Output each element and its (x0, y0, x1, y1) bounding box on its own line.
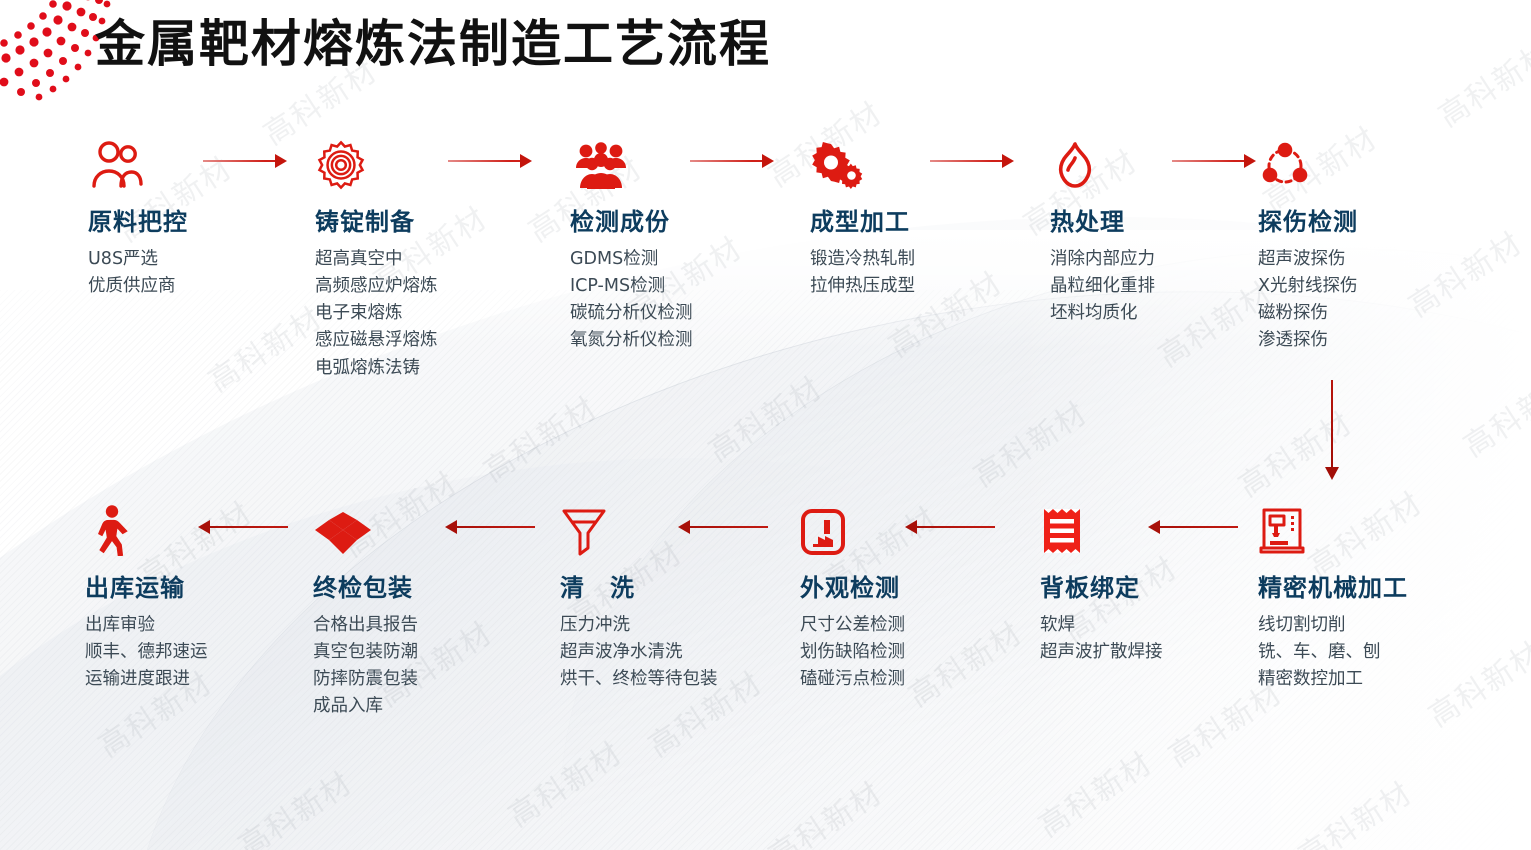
arrow-right-4-icon (930, 154, 1014, 168)
step-item: 消除内部应力 (1050, 246, 1270, 273)
step-item: X光射线探伤 (1258, 273, 1478, 300)
users-icon (88, 140, 144, 190)
step-item: 成品入库 (313, 693, 533, 720)
people-group-icon (570, 142, 632, 190)
step-title: 出库运输 (85, 568, 305, 603)
step-items: 线切割切削 铣、车、磨、刨 精密数控加工 (1258, 612, 1508, 693)
funnel-icon (560, 506, 608, 556)
step-item: 运输进度跟进 (85, 666, 305, 693)
watermark-text: 高科新材 (963, 389, 1094, 496)
step-item: GDMS检测 (570, 246, 790, 273)
step-title: 清 洗 (560, 568, 745, 603)
step-item: 超声波净水清洗 (560, 639, 745, 666)
watermark-text: 高科新材 (498, 729, 629, 836)
step-item: 超声波探伤 (1258, 246, 1478, 273)
step-items: 出库审验 顺丰、德邦速运 运输进度跟进 (85, 612, 305, 693)
arrow-left-1-icon (198, 520, 288, 534)
step-item: 渗透探伤 (1258, 327, 1478, 354)
step-title: 探伤检测 (1258, 202, 1478, 237)
arrow-right-3-icon (690, 154, 774, 168)
watermark-text: 高科新材 (228, 759, 359, 850)
watermark-text: 高科新材 (1228, 399, 1359, 506)
step-item: 出库审验 (85, 612, 305, 639)
watermark-text: 高科新材 (1288, 769, 1419, 850)
step-item: 线切割切削 (1258, 612, 1508, 639)
arrow-left-2-icon (445, 520, 535, 534)
step-item: 真空包装防潮 (313, 639, 533, 666)
step-title: 原料把控 (88, 202, 308, 237)
factory-badge-icon (800, 508, 846, 556)
page-title: 金属靶材熔炼法制造工艺流程 (95, 4, 771, 76)
step-title: 检测成份 (570, 202, 790, 237)
step-items: U8S严选 优质供应商 (88, 246, 308, 300)
step-precision-machining[interactable]: 精密机械加工 线切割切削 铣、车、磨、刨 精密数控加工 (1258, 498, 1508, 693)
step-item: 精密数控加工 (1258, 666, 1508, 693)
cnc-machine-icon (1258, 506, 1306, 556)
step-icon-wrap (1258, 498, 1508, 556)
step-title: 外观检测 (800, 568, 1020, 603)
step-title: 成型加工 (810, 202, 1030, 237)
arrow-left-5-icon (1148, 520, 1238, 534)
step-item: 晶粒细化重排 (1050, 273, 1270, 300)
watermark-text: 高科新材 (1428, 29, 1531, 136)
step-flaw-detection[interactable]: 探伤检测 超声波探伤 X光射线探伤 磁粉探伤 渗透探伤 (1258, 132, 1478, 355)
step-item: 顺丰、德邦速运 (85, 639, 305, 666)
step-item: 氧氮分析仪检测 (570, 327, 790, 354)
step-item: 磕碰污点检测 (800, 666, 1020, 693)
step-item: 超声波扩散焊接 (1040, 639, 1260, 666)
step-items: 压力冲洗 超声波净水清洗 烘干、终检等待包装 (560, 612, 745, 693)
watermark-text: 高科新材 (698, 364, 829, 471)
step-items: GDMS检测 ICP-MS检测 碳硫分析仪检测 氧氮分析仪检测 (570, 246, 790, 355)
three-dots-network-icon (1258, 142, 1312, 190)
step-item: 超高真空中 (315, 246, 535, 273)
receipt-plate-icon (1040, 506, 1084, 556)
watermark-text: 高科新材 (473, 384, 604, 491)
step-items: 锻造冷热轧制 拉伸热压成型 (810, 246, 1030, 300)
walking-person-icon (85, 504, 133, 556)
step-item: 划伤缺陷检测 (800, 639, 1020, 666)
watermark-text: 高科新材 (1028, 739, 1159, 846)
step-items: 软焊 超声波扩散焊接 (1040, 612, 1260, 666)
step-item: 优质供应商 (88, 273, 308, 300)
step-item: 软焊 (1040, 612, 1260, 639)
step-item: U8S严选 (88, 246, 308, 273)
step-item: 坯料均质化 (1050, 300, 1270, 327)
flowchart-page: 高科新材高科新材高科新材高科新材高科新材高科新材高科新材高科新材高科新材高科新材… (0, 0, 1531, 850)
step-title: 热处理 (1050, 202, 1270, 237)
step-item: 压力冲洗 (560, 612, 745, 639)
step-items: 超高真空中 高频感应炉熔炼 电子束熔炼 感应磁悬浮熔炼 电弧熔炼法铸 (315, 246, 535, 382)
step-item: 尺寸公差检测 (800, 612, 1020, 639)
step-title: 精密机械加工 (1258, 568, 1508, 603)
step-item: 铣、车、磨、刨 (1258, 639, 1508, 666)
step-icon-wrap (1258, 132, 1478, 190)
step-item: ICP-MS检测 (570, 273, 790, 300)
step-item: 感应磁悬浮熔炼 (315, 327, 535, 354)
step-item: 电弧熔炼法铸 (315, 355, 535, 382)
two-gears-icon (810, 142, 864, 190)
step-title: 背板绑定 (1040, 568, 1260, 603)
arrow-right-2-icon (448, 154, 532, 168)
gear-icon (315, 140, 367, 190)
step-item: 锻造冷热轧制 (810, 246, 1030, 273)
arrow-left-4-icon (905, 520, 995, 534)
arrow-left-3-icon (678, 520, 768, 534)
step-items: 尺寸公差检测 划伤缺陷检测 磕碰污点检测 (800, 612, 1020, 693)
step-item: 防摔防震包装 (313, 666, 533, 693)
watermark-text: 高科新材 (1453, 359, 1531, 466)
step-item: 电子束熔炼 (315, 300, 535, 327)
step-items: 超声波探伤 X光射线探伤 磁粉探伤 渗透探伤 (1258, 246, 1478, 355)
flame-icon (1050, 140, 1100, 190)
arrow-right-1-icon (203, 154, 287, 168)
arrow-right-5-icon (1172, 154, 1256, 168)
step-items: 合格出具报告 真空包装防潮 防摔防震包装 成品入库 (313, 612, 533, 721)
open-box-icon (313, 506, 373, 556)
step-item: 烘干、终检等待包装 (560, 666, 745, 693)
step-item: 合格出具报告 (313, 612, 533, 639)
step-title: 铸锭制备 (315, 202, 535, 237)
step-item: 拉伸热压成型 (810, 273, 1030, 300)
watermark-text: 高科新材 (758, 769, 889, 850)
step-title: 终检包装 (313, 568, 533, 603)
step-item: 高频感应炉熔炼 (315, 273, 535, 300)
step-item: 磁粉探伤 (1258, 300, 1478, 327)
step-item: 碳硫分析仪检测 (570, 300, 790, 327)
step-items: 消除内部应力 晶粒细化重排 坯料均质化 (1050, 246, 1270, 327)
watermark-text: 高科新材 (198, 294, 329, 401)
arrow-down-icon (1325, 380, 1339, 480)
step-ingot-preparation[interactable]: 铸锭制备 超高真空中 高频感应炉熔炼 电子束熔炼 感应磁悬浮熔炼 电弧熔炼法铸 (315, 132, 535, 382)
